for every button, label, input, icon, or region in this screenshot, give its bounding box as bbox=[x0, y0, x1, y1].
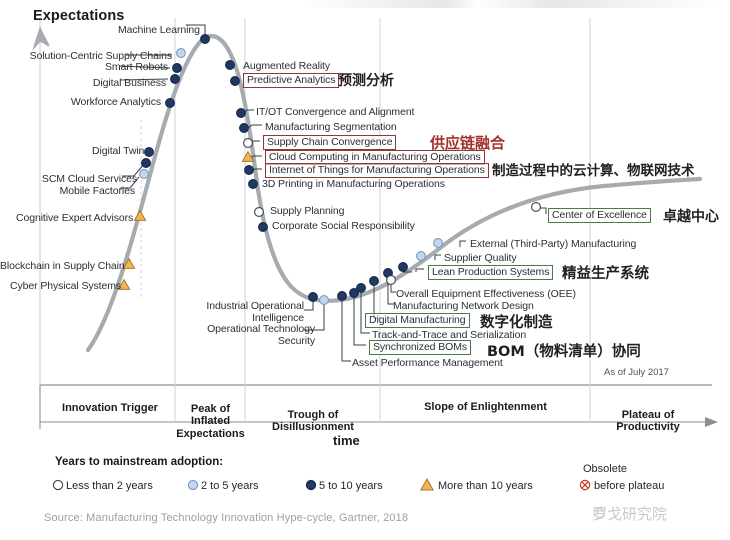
legend-obsolete-title: Obsolete bbox=[583, 463, 627, 475]
legend-label: Less than 2 years bbox=[66, 480, 153, 492]
legend-item-more-than-10-years: More than 10 years bbox=[438, 480, 533, 492]
legend-label: 2 to 5 years bbox=[201, 480, 258, 492]
hype-cycle-chart: Expectations time As of July 2017 Innova… bbox=[0, 0, 730, 540]
source-note: Source: Manufacturing Technology Innovat… bbox=[44, 512, 408, 524]
legend-item-less-than-2-years: Less than 2 years bbox=[66, 480, 153, 492]
legend-item-2-to-5-years: 2 to 5 years bbox=[201, 480, 258, 492]
legend-markers bbox=[0, 0, 730, 540]
legend-label: 5 to 10 years bbox=[319, 480, 383, 492]
legend-obsolete-subtitle: before plateau bbox=[594, 480, 664, 492]
watermark-text: 罗戈研究院 bbox=[592, 503, 667, 524]
legend-label: More than 10 years bbox=[438, 480, 533, 492]
legend-label: before plateau bbox=[594, 480, 664, 492]
legend-item-5-to-10-years: 5 to 10 years bbox=[319, 480, 383, 492]
